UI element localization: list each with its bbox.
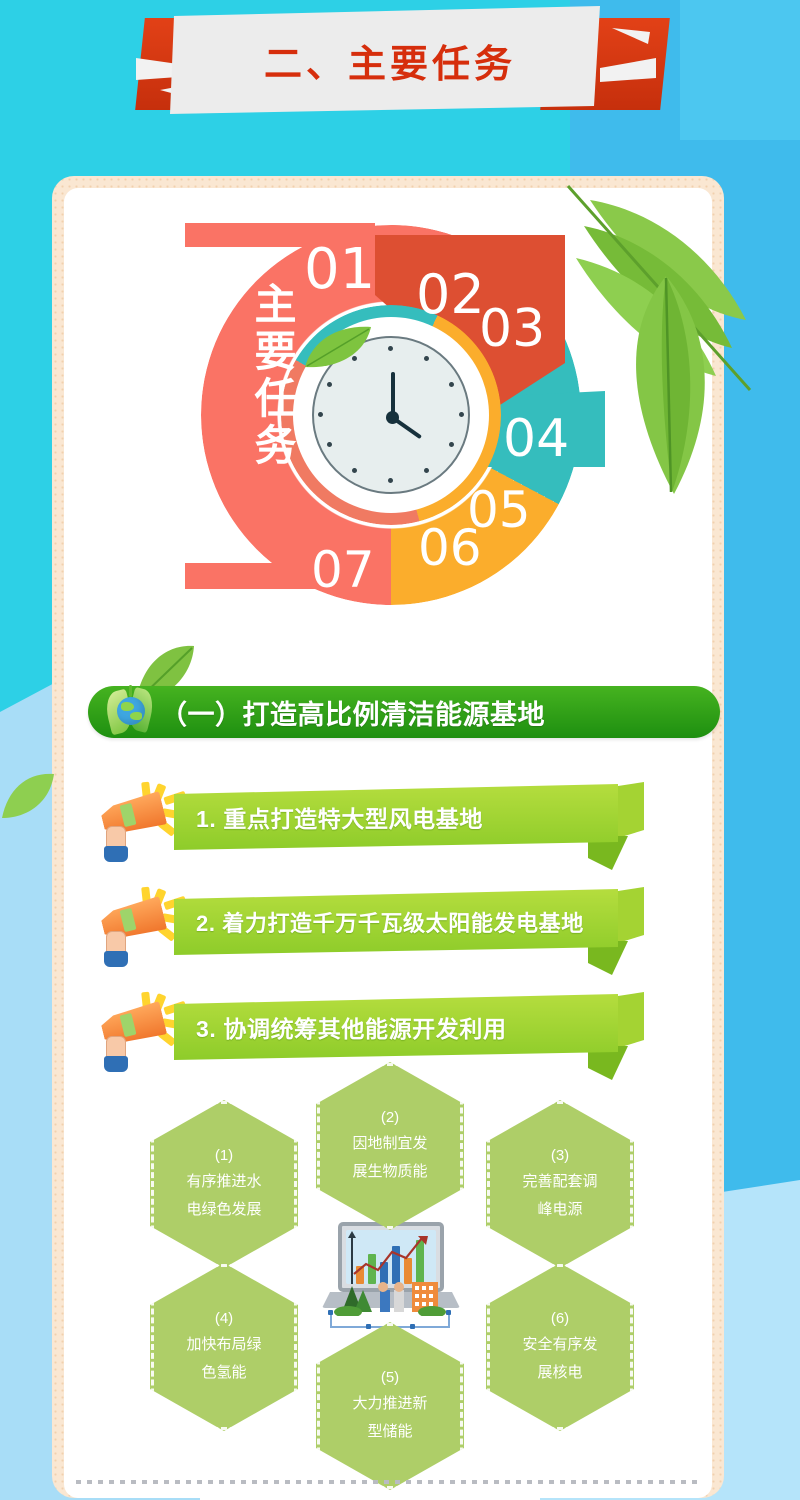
hexagon-index: (2) — [381, 1106, 399, 1130]
hexagon-index: (5) — [381, 1366, 399, 1390]
hexagon-text-line2: 展核电 — [537, 1359, 582, 1388]
hexagon-index: (4) — [215, 1307, 233, 1331]
hexagon-item[interactable]: (4) 加快布局绿 色氢能 — [150, 1263, 298, 1431]
hexagon-text-line2: 峰电源 — [537, 1196, 582, 1225]
hexagon-item[interactable]: (6) 安全有序发 展核电 — [486, 1263, 634, 1431]
hexagon-text-line2: 电绿色发展 — [186, 1196, 261, 1225]
hexagon-text-line1: 完善配套调 — [522, 1168, 597, 1197]
hexagon-grid: (1) 有序推进水 电绿色发展 (2) 因地制宜发 展生物质能 (3) 完善配套… — [0, 0, 800, 1498]
hexagon-text-line1: 有序推进水 — [186, 1168, 261, 1197]
bottom-dotted-divider — [76, 1480, 700, 1484]
hexagon-text-line2: 色氢能 — [201, 1359, 246, 1388]
hexagon-item[interactable]: (3) 完善配套调 峰电源 — [486, 1100, 634, 1268]
hexagon-text-line2: 展生物质能 — [352, 1158, 427, 1187]
hexagon-text-line2: 型储能 — [367, 1418, 412, 1447]
hexagon-text-line1: 安全有序发 — [522, 1331, 597, 1360]
hexagon-text-line1: 大力推进新 — [352, 1390, 427, 1419]
hexagon-text-line1: 因地制宜发 — [352, 1130, 427, 1159]
hexagon-index: (6) — [551, 1307, 569, 1331]
hexagon-item[interactable]: (2) 因地制宜发 展生物质能 — [316, 1062, 464, 1230]
hexagon-item[interactable]: (1) 有序推进水 电绿色发展 — [150, 1100, 298, 1268]
hexagon-index: (3) — [551, 1144, 569, 1168]
hexagon-text-line1: 加快布局绿 — [186, 1331, 261, 1360]
hexagon-index: (1) — [215, 1144, 233, 1168]
hexagon-item[interactable]: (5) 大力推进新 型储能 — [316, 1322, 464, 1490]
